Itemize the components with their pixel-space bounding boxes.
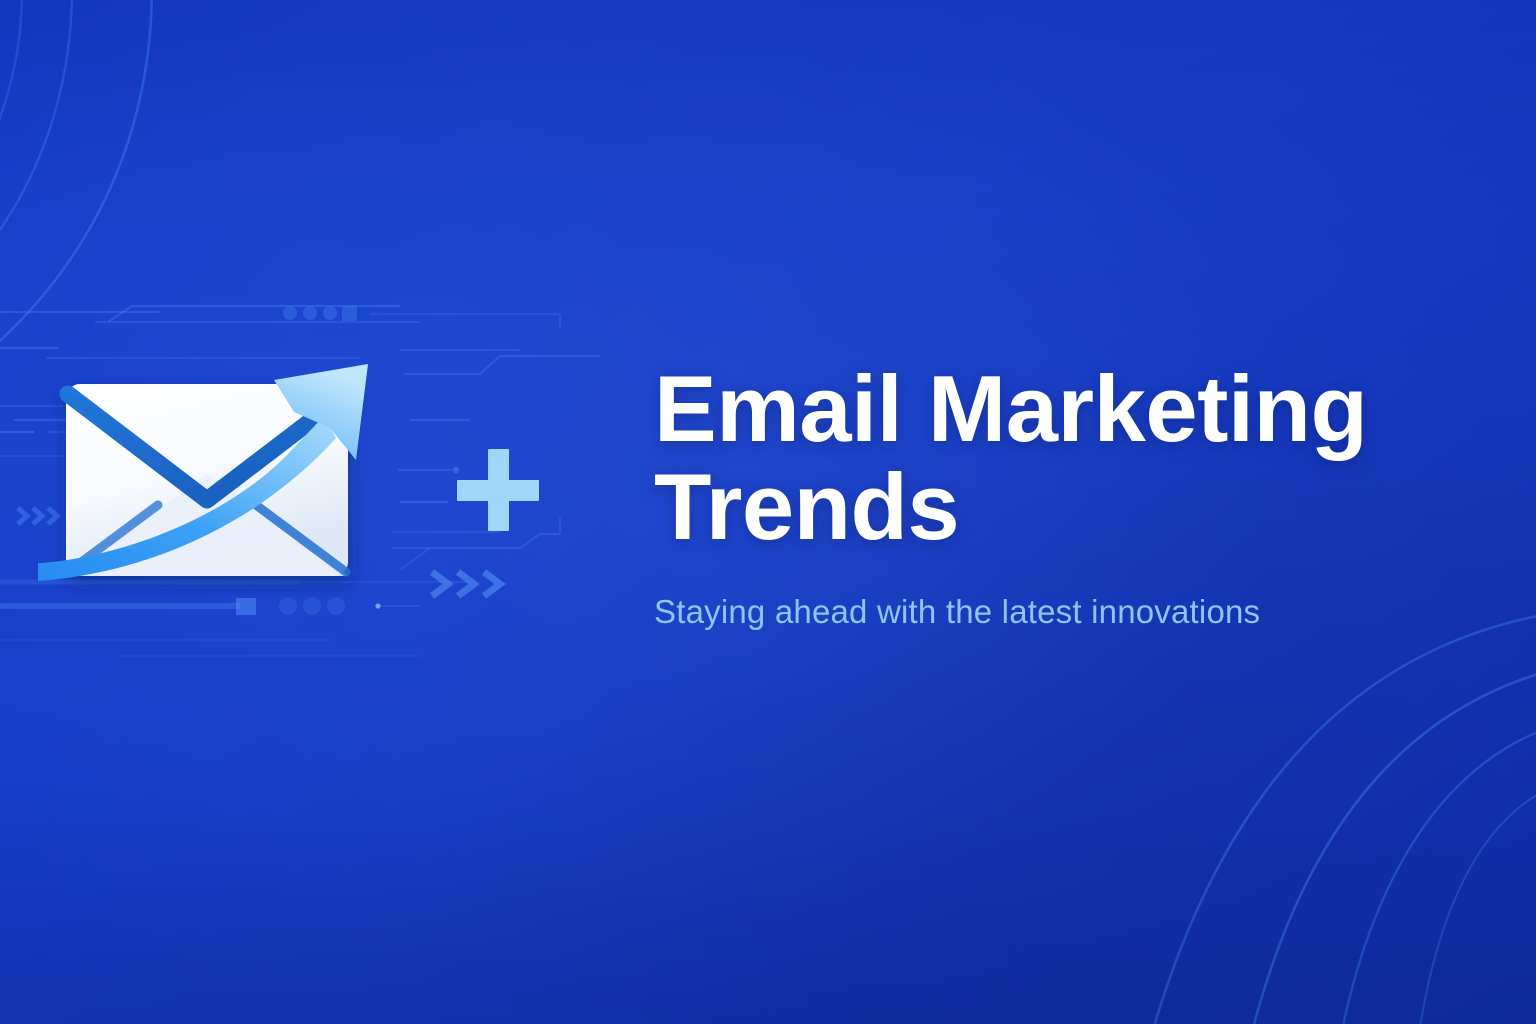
plus-icon bbox=[455, 447, 541, 533]
page-subtitle: Staying ahead with the latest innovation… bbox=[654, 556, 1414, 632]
chevron-right-icon bbox=[458, 572, 474, 596]
arc-bottom-right-1 bbox=[1150, 612, 1536, 1024]
circuit-dot bbox=[303, 306, 317, 320]
arc-bottom-right-2 bbox=[1250, 668, 1536, 1024]
chevron-right-icon bbox=[484, 572, 500, 596]
banner-text-block: Email Marketing Trends Staying ahead wit… bbox=[654, 360, 1414, 632]
email-growth-illustration bbox=[38, 350, 458, 610]
arc-bottom-right-4 bbox=[1418, 784, 1536, 1024]
circuit-dot bbox=[323, 306, 337, 320]
plus-horizontal-bar bbox=[457, 480, 539, 501]
circuit-trace bbox=[108, 306, 400, 322]
headline-line-1: Email Marketing bbox=[654, 360, 1414, 458]
banner-canvas: Email Marketing Trends Staying ahead wit… bbox=[0, 0, 1536, 1024]
circuit-dot bbox=[283, 306, 297, 320]
circuit-terminator bbox=[342, 306, 357, 321]
headline-line-2: Trends bbox=[654, 458, 1414, 556]
arc-top-left-2 bbox=[0, 0, 72, 360]
arc-top-left-1 bbox=[0, 0, 22, 285]
arc-bottom-right-3 bbox=[1340, 724, 1536, 1024]
page-title: Email Marketing Trends bbox=[654, 360, 1414, 556]
chevron-right-icon bbox=[18, 508, 27, 524]
